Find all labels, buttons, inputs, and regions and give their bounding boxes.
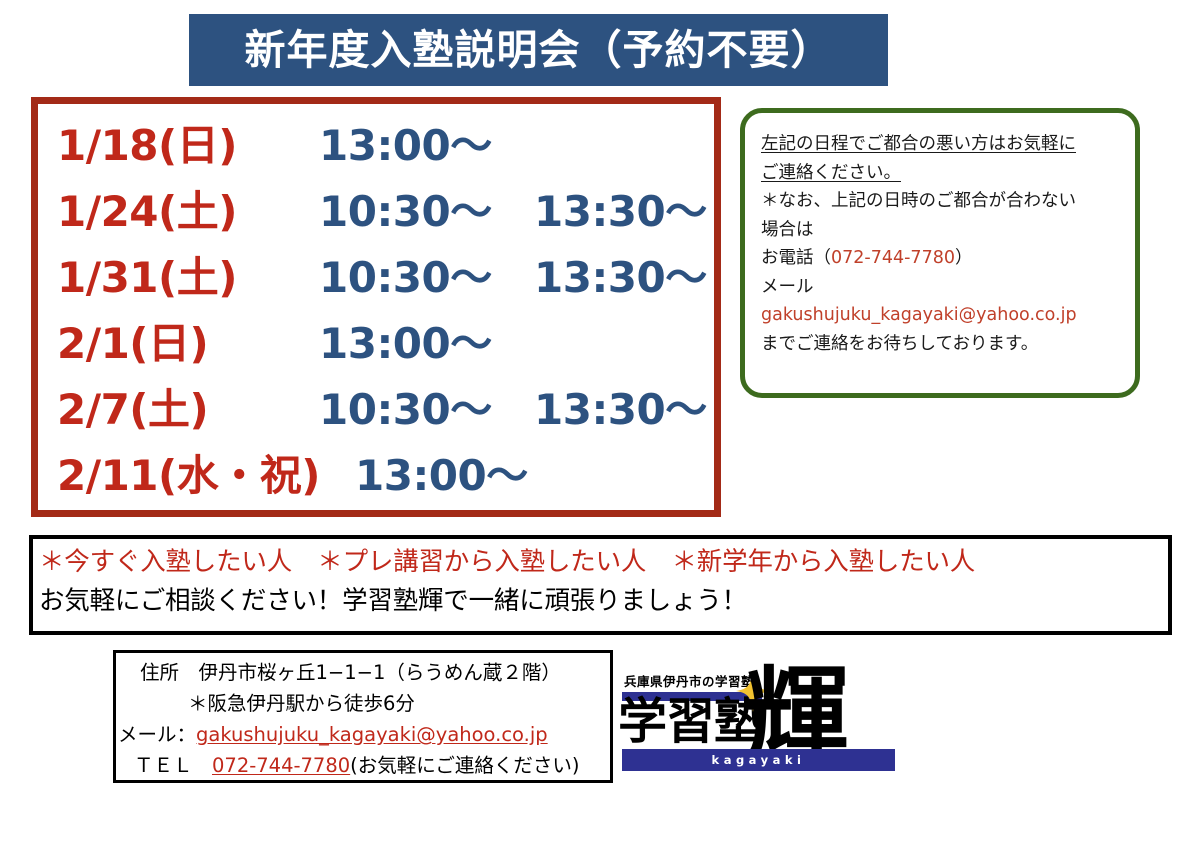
schedule-date: 2/11(水・祝) (57, 442, 355, 503)
address-tel-number[interactable]: 072-744-7780 (212, 754, 350, 777)
schedule-time-1: 13:00〜 (319, 310, 534, 371)
schedule-time-2: 13:30〜 (534, 178, 749, 239)
schedule-date: 1/31(土) (57, 244, 319, 305)
address-tel-suffix: (お気軽にご連絡ください) (350, 754, 579, 777)
note-phone-close: ） (955, 248, 973, 268)
schedule-date: 2/7(土) (57, 376, 319, 437)
schedule-date: 1/18(日) (57, 112, 319, 173)
page-title: 新年度入塾説明会（予約不要） (245, 30, 833, 71)
schedule-time-1: 10:30〜 (319, 376, 534, 437)
logo-tagline: 兵庫県伊丹市の学習塾 (624, 671, 754, 690)
table-row: 2/11(水・祝) 13:00〜 (38, 442, 714, 508)
note-line-2: ご連絡ください。 (761, 159, 1121, 188)
address-station-note: ＊阪急伊丹駅から徒歩6分 (116, 688, 610, 719)
message-box: ＊今すぐ入塾したい人 ＊プレ講習から入塾したい人 ＊新学年から入塾したい人 お気… (29, 535, 1172, 635)
table-row: 1/31(土) 10:30〜 13:30〜 (38, 244, 714, 310)
school-logo: 兵庫県伊丹市の学習塾 学習塾 輝 kagayaki (612, 663, 897, 783)
schedule-time-1: 13:00〜 (355, 442, 528, 503)
logo-romaji: kagayaki (622, 749, 895, 771)
message-line-2: お気軽にご相談ください！学習塾輝で一緒に頑張りましょう！ (39, 581, 1162, 621)
schedule-time-2: 13:30〜 (534, 244, 749, 305)
note-phone-label: お電話（ (761, 248, 831, 268)
schedule-time-1: 10:30〜 (319, 178, 534, 239)
note-phone-number[interactable]: 072-744-7780 (831, 248, 955, 268)
address-tel-label: ＴＥＬ (134, 754, 212, 777)
note-line-1: 左記の日程でご都合の悪い方はお気軽に (761, 130, 1121, 159)
address-mail-line: メール：gakushujuku_kagayaki@yahoo.co.jp (116, 719, 610, 750)
schedule-rows: 1/18(日) 13:00〜 1/24(土) 10:30〜 13:30〜 1/3… (38, 104, 714, 508)
schedule-date: 2/1(日) (57, 310, 319, 371)
table-row: 1/18(日) 13:00〜 (38, 112, 714, 178)
schedule-date: 1/24(土) (57, 178, 319, 239)
note-line-4: 場合は (761, 216, 1121, 245)
address-tel-line: ＴＥＬ 072-744-7780(お気軽にご連絡ください) (116, 750, 610, 781)
note-email-address[interactable]: gakushujuku_kagayaki@yahoo.co.jp (761, 301, 1121, 330)
note-closing-line: までご連絡をお待ちしております。 (761, 330, 1121, 359)
schedule-time-1: 10:30〜 (319, 244, 534, 305)
note-phone-line: お電話（072-744-7780） (761, 244, 1121, 273)
note-mail-label: メール (761, 273, 1121, 302)
address-mail-label: メール： (118, 723, 196, 746)
table-row: 2/7(土) 10:30〜 13:30〜 (38, 376, 714, 442)
table-row: 1/24(土) 10:30〜 13:30〜 (38, 178, 714, 244)
schedule-time-1: 13:00〜 (319, 112, 534, 173)
title-banner: 新年度入塾説明会（予約不要） (189, 14, 888, 86)
note-line-3: ＊なお、上記の日時のご都合が合わない (761, 187, 1121, 216)
address-line: 住所 伊丹市桜ヶ丘1−1−1（らうめん蔵２階） (116, 657, 610, 688)
schedule-time-2: 13:30〜 (534, 376, 749, 437)
table-row: 2/1(日) 13:00〜 (38, 310, 714, 376)
address-box: 住所 伊丹市桜ヶ丘1−1−1（らうめん蔵２階） ＊阪急伊丹駅から徒歩6分 メール… (113, 650, 613, 783)
schedule-box: 1/18(日) 13:00〜 1/24(土) 10:30〜 13:30〜 1/3… (31, 97, 721, 517)
address-email-address[interactable]: gakushujuku_kagayaki@yahoo.co.jp (196, 723, 548, 746)
message-line-1: ＊今すぐ入塾したい人 ＊プレ講習から入塾したい人 ＊新学年から入塾したい人 (39, 543, 1162, 581)
contact-note-box: 左記の日程でご都合の悪い方はお気軽に ご連絡ください。 ＊なお、上記の日時のご都… (740, 108, 1140, 398)
